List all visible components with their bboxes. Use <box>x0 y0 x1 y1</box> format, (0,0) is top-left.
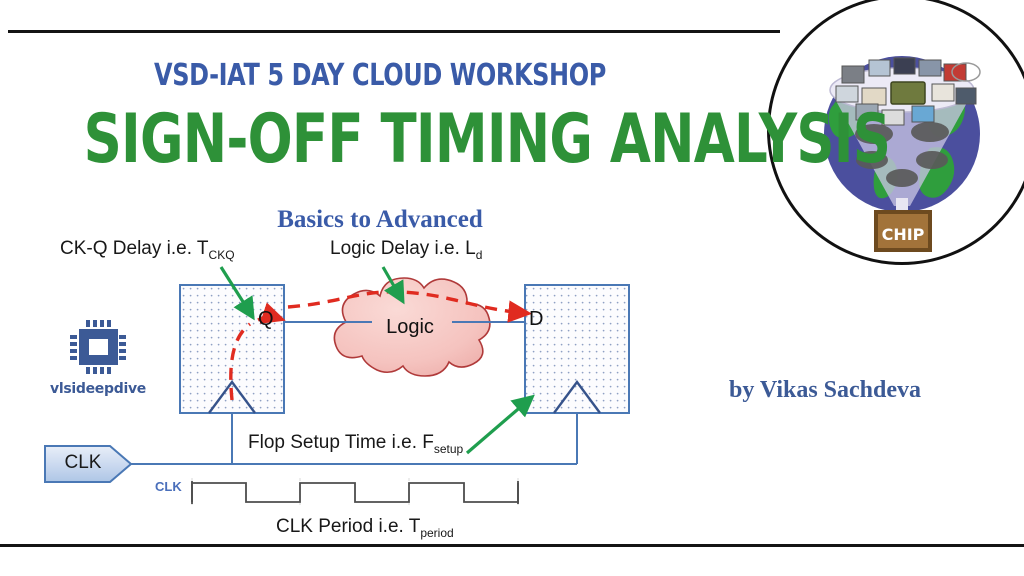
annotation-clk-period: CLK Period i.e. Tperiod <box>276 516 454 540</box>
annotation-logic-sub: d <box>476 248 483 262</box>
clk-waveform-label: CLK <box>155 479 182 494</box>
logic-block-label: Logic <box>355 316 465 339</box>
annotation-ckq-delay: CK-Q Delay i.e. TCKQ <box>60 238 235 262</box>
d-pin-label: D <box>529 308 543 331</box>
annotation-logic-text: Logic Delay i.e. L <box>330 238 476 259</box>
annotation-logic-delay: Logic Delay i.e. Ld <box>330 238 482 262</box>
slide-canvas: CHIP VSD-IAT 5 DAY CLOUD WORKSHOP SIGN-O… <box>0 0 1024 576</box>
clk-pin-label: CLK <box>48 452 118 474</box>
annotation-period-sub: period <box>420 526 453 540</box>
annotation-setup-sub: setup <box>434 442 463 456</box>
annotation-setup-text: Flop Setup Time i.e. F <box>248 432 434 453</box>
clk-waveform <box>192 478 518 508</box>
timing-path-diagram <box>0 0 1024 576</box>
q-pin-label: Q <box>258 308 274 331</box>
setup-arrow <box>467 398 531 453</box>
annotation-period-text: CLK Period i.e. T <box>276 516 420 537</box>
annotation-ckq-sub: CKQ <box>209 248 235 262</box>
annotation-flop-setup: Flop Setup Time i.e. Fsetup <box>248 432 463 456</box>
annotation-ckq-text: CK-Q Delay i.e. T <box>60 238 209 259</box>
capture-flop <box>525 285 629 413</box>
